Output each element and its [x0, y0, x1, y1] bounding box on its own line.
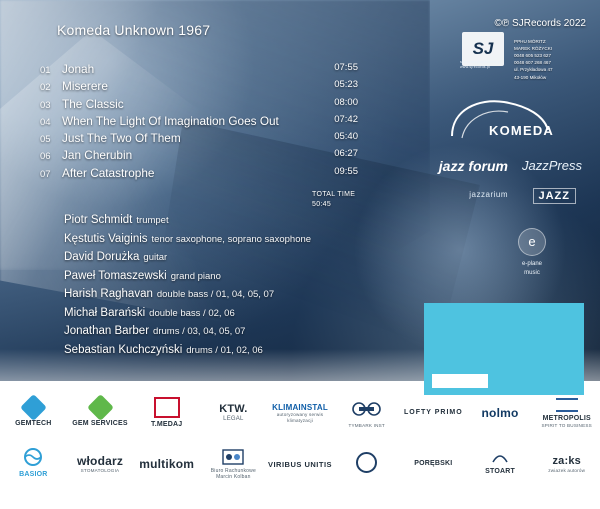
cd-back-cover: Komeda Unknown 1967 01 Jonah 07:55 02 Mi…: [0, 0, 600, 509]
musician-row: David Dorużkaguitar: [64, 247, 444, 266]
musician-row: Kęstutis Vaiginistenor saxophone, sopran…: [64, 229, 444, 248]
sponsor-name: BASIOR: [19, 471, 47, 479]
musician-role: drums / 01, 02, 06: [186, 345, 263, 356]
track-title: Just The Two Of Them: [62, 131, 350, 145]
sponsor-name: GEM SERVICES: [72, 420, 128, 428]
sponsor-item: VIRIBUS UNITIS: [267, 460, 334, 469]
musician-row: Jonathan Barberdrums / 03, 04, 05, 07: [64, 321, 444, 340]
track-title: Jonah: [62, 62, 350, 76]
sponsor-name: multikom: [139, 457, 194, 471]
track-number: 07: [40, 169, 62, 180]
musicians-list: Piotr Schmidttrumpet Kęstutis Vaiginiste…: [64, 210, 444, 358]
track-title: After Catastrophe: [62, 166, 350, 180]
sponsor-name: T.MEDAJ: [151, 421, 182, 429]
cyan-overlay-inner-bar: [432, 374, 488, 388]
sponsor-name: KLIMAINSTAL: [272, 403, 328, 413]
sjrecords-fineprint: sjrecords@sjrecords.pl www.sjrecords.pl: [460, 60, 504, 71]
musician-name: David Dorużka: [64, 251, 139, 263]
sponsor-name: PORĘBSKI: [414, 460, 452, 468]
total-time: TOTAL TIME 50:45: [312, 190, 355, 210]
track-title: When The Light Of Imagination Goes Out: [62, 114, 350, 128]
track-number: 05: [40, 134, 62, 145]
track-title: The Classic: [62, 97, 350, 111]
musician-role: drums / 03, 04, 05, 07: [153, 326, 245, 337]
pphu-moritz-block: PPHU MÓRITZ MAREK RÓŻYCKI 0048 605 523 6…: [514, 38, 586, 81]
sponsor-item: KLIMAINSTAL autoryzowany serwis klimatyz…: [267, 403, 334, 424]
track-number: 03: [40, 100, 62, 111]
sponsor-item: METROPOLIS SPIRIT TO BUSINESS: [533, 398, 600, 429]
sponsor-item: [333, 452, 400, 476]
basior-icon: [20, 448, 46, 468]
sponsor-item: Biuro Rachunkowe Marcin Kolban: [200, 449, 267, 480]
sponsor-name: GEMTECH: [15, 420, 51, 428]
track-time: 06:27: [334, 148, 358, 159]
total-time-label: TOTAL TIME: [312, 190, 355, 200]
musician-role: guitar: [143, 252, 167, 263]
sponsor-sub: autoryzowany serwis klimatyzacji: [267, 412, 334, 423]
track-time: 07:55: [334, 62, 358, 73]
track-row: 07 After Catastrophe 09:55: [40, 166, 350, 183]
sponsor-item: multikom: [133, 457, 200, 471]
musician-role: trumpet: [136, 215, 168, 226]
sponsor-item: nolmo: [467, 406, 534, 420]
jazzarium-logo: jazzarium: [469, 190, 508, 199]
track-row: 02 Miserere 05:23: [40, 79, 350, 96]
abacus-icon: [222, 449, 244, 465]
sjrecords-logo-text: SJ: [473, 39, 494, 59]
track-title: Jan Cherubin: [62, 148, 350, 162]
copyright-line: ©℗ SJRecords 2022: [495, 18, 586, 29]
seal-icon: [356, 452, 377, 473]
sponsor-sub: LEGAL: [223, 416, 243, 423]
track-time: 07:42: [334, 114, 358, 125]
metropolis-icon: [556, 398, 578, 412]
track-number: 01: [40, 65, 62, 76]
track-time: 09:55: [334, 166, 358, 177]
cyan-overlay-block: [424, 303, 584, 395]
sponsor-name: za:ks: [552, 455, 581, 468]
musician-row: Sebastian Kuchczyńskidrums / 01, 02, 06: [64, 340, 444, 359]
musician-row: Harish Raghavandouble bass / 01, 04, 05,…: [64, 284, 444, 303]
sponsor-sub: zwiazek autorów: [548, 468, 585, 474]
pipes-icon: [350, 398, 384, 420]
e-plane-music-logo: e e-plane music: [500, 228, 564, 278]
sponsor-sub: Marcin Kolban: [216, 474, 251, 480]
tracklist: 01 Jonah 07:55 02 Miserere 05:23 03 The …: [40, 62, 350, 183]
track-number: 02: [40, 82, 62, 93]
sponsor-sub: SPIRIT TO BUSINESS: [542, 423, 592, 429]
e-plane-name: e-plane: [500, 260, 564, 269]
musician-role: grand piano: [171, 271, 221, 282]
sponsor-item: za:ks zwiazek autorów: [533, 455, 600, 474]
track-number: 04: [40, 117, 62, 128]
diamond-green-icon: [87, 394, 114, 421]
sponsor-item: STOART: [467, 451, 534, 476]
sponsor-item: BASIOR: [0, 448, 67, 479]
sponsor-name: KTW.: [219, 403, 247, 416]
sponsor-row-1: GEMTECH GEM SERVICES T.MEDAJ KTW. LEGAL …: [0, 392, 600, 434]
sponsor-name: LOFTY PRIMO: [404, 409, 463, 417]
track-row: 05 Just The Two Of Them 05:40: [40, 131, 350, 148]
jazz-press-logo: JazzPress: [522, 158, 582, 173]
musician-name: Paweł Tomaszewski: [64, 270, 167, 282]
circle-e-icon: e: [518, 228, 546, 256]
track-time: 05:23: [334, 79, 358, 90]
sponsor-item: włodarz STOMATOLOGIA: [67, 454, 134, 474]
sponsor-name: STOART: [485, 468, 515, 476]
sponsor-item: KTW. LEGAL: [200, 403, 267, 423]
sponsor-sub: STOMATOLOGIA: [81, 468, 120, 474]
musician-role: double bass / 02, 06: [149, 308, 235, 319]
musician-row: Piotr Schmidttrumpet: [64, 210, 444, 229]
musician-row: Michał Barańskidouble bass / 02, 06: [64, 303, 444, 322]
musician-name: Kęstutis Vaiginis: [64, 233, 148, 245]
musician-name: Sebastian Kuchczyński: [64, 344, 182, 356]
track-row: 01 Jonah 07:55: [40, 62, 350, 79]
diamond-blue-icon: [20, 394, 47, 421]
track-row: 04 When The Light Of Imagination Goes Ou…: [40, 114, 350, 131]
sponsor-name: nolmo: [482, 406, 519, 420]
track-row: 03 The Classic 08:00: [40, 97, 350, 114]
musician-role: double bass / 01, 04, 05, 07: [157, 289, 274, 300]
page-title: Komeda Unknown 1967: [57, 22, 210, 38]
track-row: 06 Jan Cherubin 06:27: [40, 148, 350, 165]
sponsor-name: włodarz: [77, 454, 123, 468]
stoart-icon: [490, 451, 510, 465]
sponsor-name: VIRIBUS UNITIS: [268, 460, 332, 469]
jazz-box-logo: JAZZ: [533, 188, 577, 204]
track-time: 08:00: [334, 97, 358, 108]
total-time-value: 50:45: [312, 200, 355, 210]
sponsor-item: T.MEDAJ: [133, 397, 200, 429]
red-frame-icon: [154, 397, 180, 418]
sponsor-name: METROPOLIS: [543, 415, 591, 423]
e-plane-sub: music: [500, 269, 564, 278]
musician-row: Paweł Tomaszewskigrand piano: [64, 266, 444, 285]
komeda-logo-text: KOMEDA: [489, 123, 554, 138]
musician-name: Harish Raghavan: [64, 288, 153, 300]
sponsor-row-2: BASIOR włodarz STOMATOLOGIA multikom Biu…: [0, 444, 600, 484]
musician-role: tenor saxophone, soprano saxophone: [152, 234, 312, 245]
track-time: 05:40: [334, 131, 358, 142]
sponsor-item: PORĘBSKI: [400, 460, 467, 468]
track-title: Miserere: [62, 79, 350, 93]
musician-name: Piotr Schmidt: [64, 214, 132, 226]
musician-name: Michał Barański: [64, 307, 145, 319]
sponsor-item: GEMTECH: [0, 398, 67, 428]
jazz-forum-logo: jazz forum: [439, 158, 508, 174]
sponsor-item: GEM SERVICES: [67, 398, 134, 428]
sponsor-name: TYMBARK INST: [349, 423, 385, 429]
musician-name: Jonathan Barber: [64, 325, 149, 337]
sponsor-item: LOFTY PRIMO: [400, 409, 467, 417]
sponsor-item: TYMBARK INST: [333, 398, 400, 429]
track-number: 06: [40, 151, 62, 162]
